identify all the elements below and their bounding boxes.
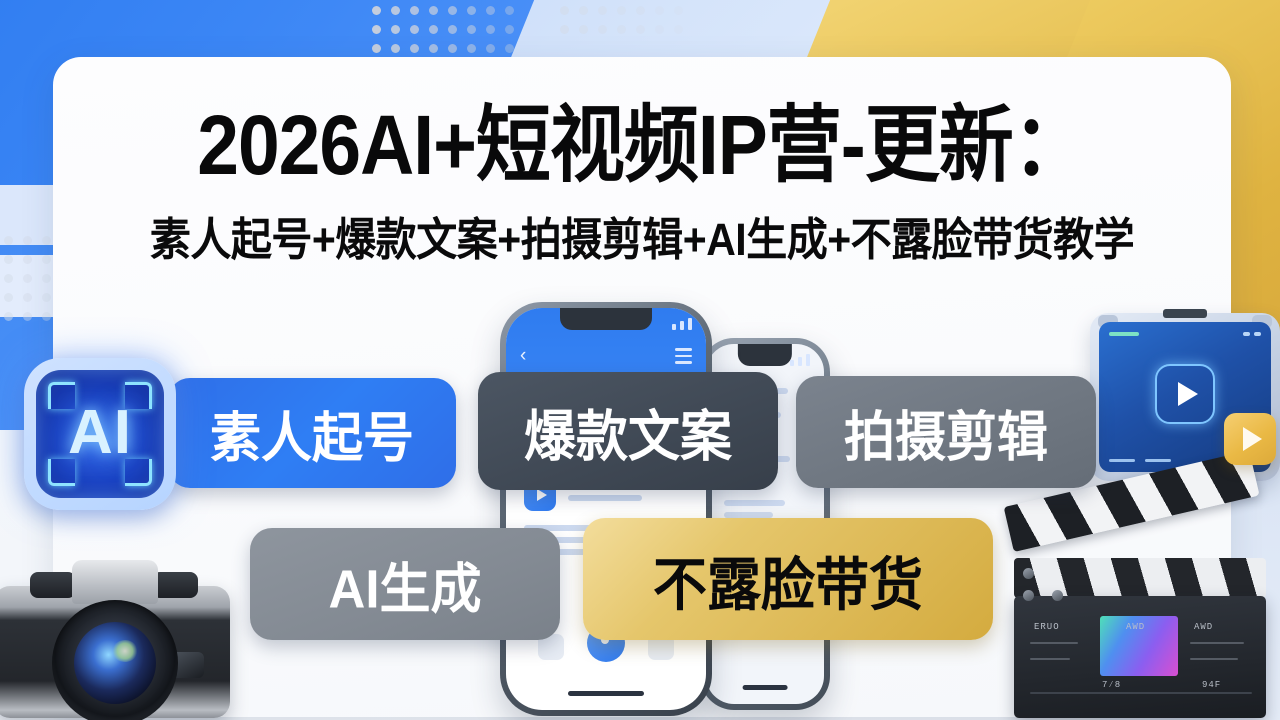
poster-canvas: 2026AI+短视频IP营-更新： 素人起号+爆款文案+拍摄剪辑+AI生成+不露… (0, 0, 1280, 720)
camera-lens-flare (112, 640, 138, 662)
hamburger-menu-icon[interactable] (675, 348, 692, 368)
tag-ai-shengcheng[interactable]: AI生成 (250, 528, 560, 640)
tag-label: AI生成 (328, 545, 481, 623)
camera-lens (52, 600, 178, 720)
phone-home-indicator (568, 691, 644, 696)
play-button-icon[interactable] (1224, 413, 1276, 465)
tag-label: 素人起号 (210, 394, 414, 472)
tag-bulu-lian-daihuo[interactable]: 不露脸带货 (583, 518, 993, 640)
camera-dial-left (30, 572, 76, 598)
camera-prism (72, 560, 158, 604)
chevron-left-icon[interactable]: ‹ (520, 346, 526, 365)
tag-suren-qihao[interactable]: 素人起号 (168, 378, 456, 488)
tag-label: 不露脸带货 (653, 537, 923, 621)
play-button-icon[interactable] (1155, 364, 1215, 424)
ai-badge-label: AI (36, 402, 164, 464)
phone-home-indicator (743, 685, 788, 690)
tag-label: 爆款文案 (524, 391, 732, 471)
dslr-camera-icon (0, 548, 240, 720)
page-title: 2026AI+短视频IP营-更新： (53, 98, 1231, 192)
clapperboard-icon: ERUO AWD AWD 7⁄8 94F (1008, 500, 1280, 720)
tag-baokuan-wenan[interactable]: 爆款文案 (478, 372, 778, 490)
phone-status-bar (672, 318, 692, 330)
device-progress-bar (1109, 332, 1139, 336)
tag-label: 拍摄剪辑 (844, 393, 1048, 471)
clapper-slate: ERUO AWD AWD 7⁄8 94F (1014, 596, 1266, 718)
device-caption (1109, 459, 1171, 462)
camera-glass (74, 622, 156, 704)
phone-notch (560, 308, 652, 330)
tag-paishe-jianji[interactable]: 拍摄剪辑 (796, 376, 1096, 488)
phone-notch (738, 344, 792, 366)
phone-status-bar (790, 354, 810, 366)
smartphone-front-icon: ‹ (500, 302, 712, 716)
device-status-dots (1243, 332, 1261, 336)
page-subtitle: 素人起号+爆款文案+拍摄剪辑+AI生成+不露脸带货教学 (53, 212, 1231, 267)
ai-scan-icon: AI (24, 358, 176, 510)
camera-dial-right (152, 572, 198, 598)
